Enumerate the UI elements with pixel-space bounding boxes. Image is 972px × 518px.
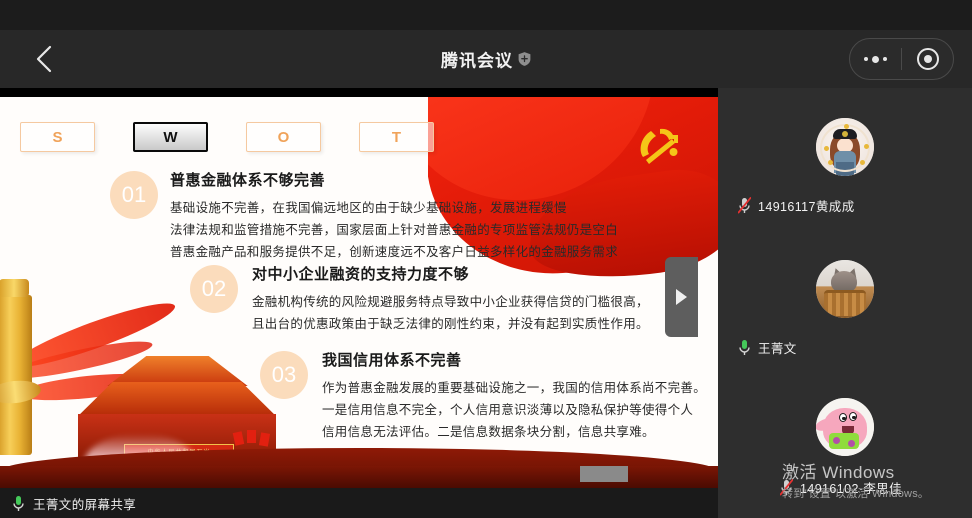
close-target-icon[interactable] (902, 48, 953, 70)
block-title: 对中小企业融资的支持力度不够 (252, 263, 649, 284)
block-title: 普惠金融体系不够完善 (170, 169, 618, 190)
block-line: 法律法规和监管措施不完善，国家层面上针对普惠金融的专项监管法规仍是空白 (170, 219, 618, 241)
participant-name-row: 14916102·李思佳 (780, 478, 902, 497)
swot-tab-group: S W O T (20, 122, 434, 152)
content-block-03: 03 我国信用体系不完善 作为普惠金融发展的重要基础设施之一，我国的信用体系尚不… (260, 349, 706, 443)
participant-item[interactable]: 14916117黄成成 (718, 88, 972, 230)
party-emblem-icon (634, 123, 680, 167)
swot-tab-w[interactable]: W (133, 122, 208, 152)
block-line: 普惠金融产品和服务提供不足，创新速度远不及客户日益多样化的金融服务需求 (170, 241, 618, 263)
microphone-on-icon (738, 339, 751, 356)
content-block-02: 02 对中小企业融资的支持力度不够 金融机构传统的风险规避服务特点导致中小企业获… (190, 263, 649, 335)
block-line: 且出台的优惠政策由于缺乏法律的刚性约束，并没有起到实质性作用。 (252, 313, 649, 335)
microphone-muted-icon (780, 479, 793, 496)
top-navbar: 腾讯会议 (0, 30, 972, 88)
swot-tab-t[interactable]: T (359, 122, 434, 152)
microphone-on-icon (12, 495, 25, 512)
verified-shield-icon (518, 52, 531, 67)
content-block-01: 01 普惠金融体系不够完善 基础设施不完善，在我国偏远地区的由于缺少基础设施，发… (110, 169, 618, 263)
screen-share-status-bar: 王菁文的屏幕共享 (0, 488, 718, 518)
block-number: 01 (110, 171, 158, 219)
nav-title-text: 腾讯会议 (441, 47, 513, 72)
tencent-meeting-screen: 腾讯会议 (0, 0, 972, 518)
microphone-muted-icon (738, 197, 751, 214)
page-title: 腾讯会议 (0, 47, 972, 72)
anime-girl-avatar (816, 118, 874, 176)
participant-name: 14916102·李思佳 (800, 478, 902, 497)
block-line: 信用信息无法评估。二是信息数据条块分割，信息共享难。 (322, 421, 706, 443)
kitten-basket-avatar (816, 260, 874, 318)
participant-name: 王菁文 (758, 338, 797, 357)
block-line: 金融机构传统的风险规避服务特点导致中小企业获得信贷的门槛很高， (252, 291, 649, 313)
participant-name-row: 14916117黄成成 (738, 196, 855, 215)
participant-item[interactable]: 王菁文 (718, 230, 972, 370)
block-line: 一是信用信息不完全，个人信用意识淡薄以及隐私保护等使得个人 (322, 399, 706, 421)
share-owner-label: 王菁文的屏幕共享 (33, 494, 136, 513)
miniprogram-capsule (849, 38, 954, 80)
patrick-star-avatar (816, 398, 874, 456)
swot-tab-o[interactable]: O (246, 122, 321, 152)
expand-panel-arrow-icon[interactable] (665, 257, 698, 337)
block-title: 我国信用体系不完善 (322, 349, 706, 370)
participant-name-row: 王菁文 (738, 338, 797, 357)
huabiao-pillar-graphic (0, 295, 32, 455)
participant-item[interactable]: 14916102·李思佳 (718, 370, 972, 518)
participant-rail: 14916117黄成成 (718, 88, 972, 518)
participant-name: 14916117黄成成 (758, 196, 855, 215)
block-line: 基础设施不完善，在我国偏远地区的由于缺少基础设施，发展进程缓慢 (170, 197, 618, 219)
shared-screen-view[interactable]: 中华人民共和国万岁 S W O T 01 普惠金融体系不够完善 基础设施不完善， (0, 97, 718, 488)
block-number: 02 (190, 265, 238, 313)
block-number: 03 (260, 351, 308, 399)
swot-tab-s[interactable]: S (20, 122, 95, 152)
block-line: 作为普惠金融发展的重要基础设施之一，我国的信用体系尚不完善。 (322, 377, 706, 399)
toolbar-occluder (580, 466, 628, 482)
share-top-strip (0, 88, 718, 97)
more-dots-icon[interactable] (850, 56, 901, 63)
